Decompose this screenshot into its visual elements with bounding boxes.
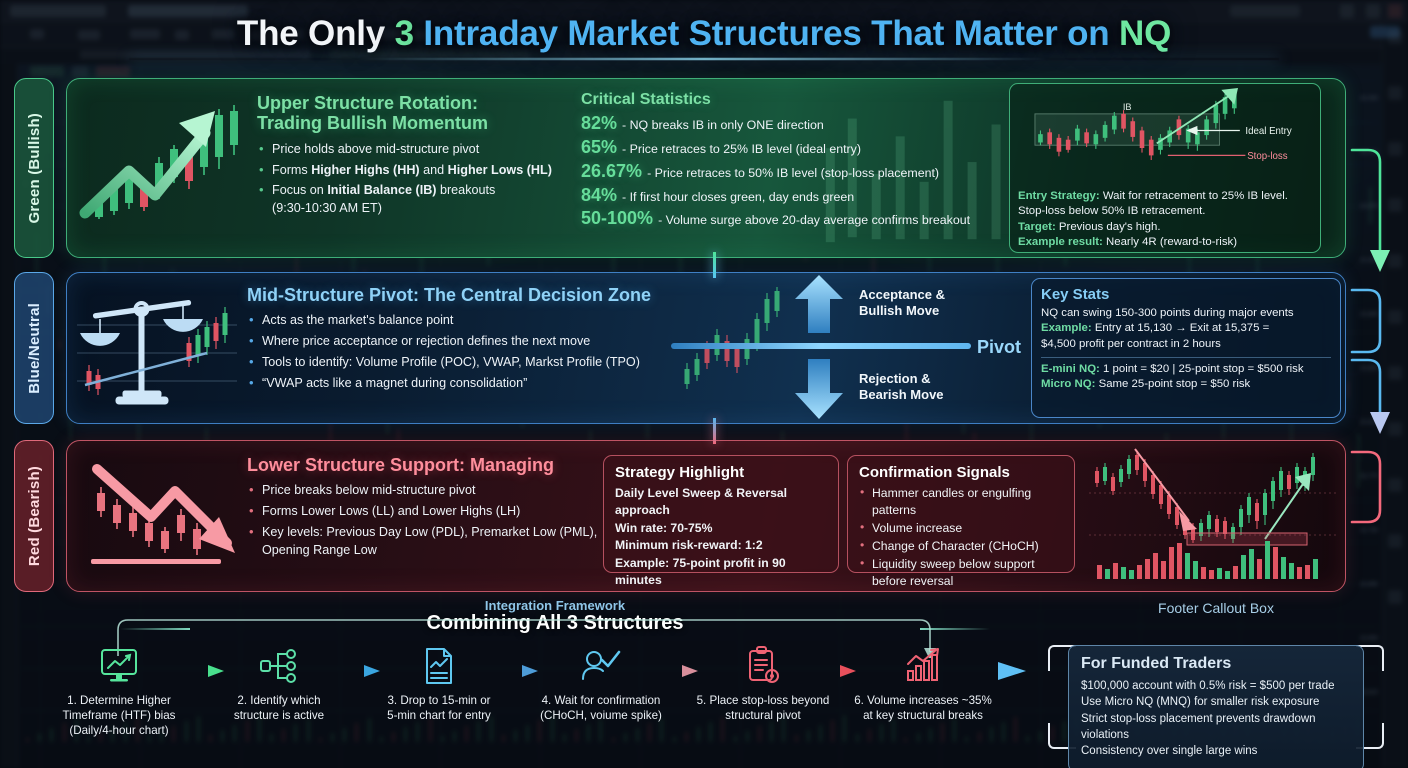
page-title: The Only 3 Intraday Market Structures Th…	[0, 8, 1408, 60]
green-bullet-1-pre: Forms	[272, 163, 311, 177]
svg-text:IB: IB	[1123, 102, 1132, 112]
stat-row: 84% - If first hour closes green, day en…	[581, 184, 1009, 207]
red-title: Lower Structure Support: Managing	[247, 455, 603, 475]
title-part-2: Intraday Market Structures That Matter o…	[414, 14, 1119, 53]
list-item: Focus on Initial Balance (IB) breakouts(…	[257, 182, 577, 218]
strategy-line: Win rate: 70-75%	[615, 520, 827, 537]
funded-traders-title: For Funded Traders	[1081, 655, 1351, 673]
confirmation-signals-title: Confirmation Signals	[859, 464, 1063, 481]
user-check-icon	[526, 644, 676, 688]
pivot-acceptance-rejection-diagram: Acceptance & Bullish Move Rejection & Be…	[671, 273, 1031, 424]
step-4-label: 4. Wait for confirmation (CHoCH, voiume …	[526, 694, 676, 724]
list-item: Forms Lower Lows (LL) and Lower Highs (L…	[247, 503, 603, 521]
callout-line: $100,000 account with 0.5% risk = $500 p…	[1081, 678, 1351, 694]
green-bullet-list: Price holds above mid-structure pivot Fo…	[257, 141, 577, 219]
stat-row: 82% - NQ breaks IB in only ONE direction	[581, 112, 1009, 135]
stat-desc: - Price retraces to 50% IB level (stop-l…	[647, 166, 939, 182]
category-tab-blue-neutral[interactable]: Blue/Neutral	[14, 272, 54, 424]
stat-row: 50-100% - Volume surge above 20-day aver…	[581, 207, 1009, 230]
framework-step-2: 2. Identify which structure is active	[204, 644, 354, 724]
stat-row: 65% - Price retraces to 25% IB level (id…	[581, 136, 1009, 159]
key-stats-line: NQ can swing 150-300 points during major…	[1041, 306, 1331, 321]
connector-green-to-blue	[713, 252, 716, 278]
entry-strategy-note: Entry Strategy: Wait for retracement to …	[1018, 189, 1312, 204]
category-tab-green-label: Green (Bullish)	[26, 113, 43, 224]
step-1-label: 1. Determine Higher Timeframe (HTF) bias…	[44, 694, 194, 739]
pivot-label: Pivot	[977, 337, 1021, 357]
green-bullet-2-pre: Focus on	[272, 183, 327, 197]
list-item: Hammer candles or engulfing patterns	[859, 485, 1063, 519]
key-stats-divider	[1041, 357, 1331, 358]
list-item: Tools to identify: Volume Profile (POC),…	[247, 354, 671, 372]
framework-step-6: 6. Volume increases ~35% at key structur…	[848, 644, 998, 724]
green-bullet-1-bold2: Higher Lows (HL)	[448, 163, 552, 177]
strategy-highlight-title: Strategy Highlight	[615, 464, 827, 481]
stat-desc: - Price retraces to 25% IB level (ideal …	[622, 142, 861, 158]
list-item: Acts as the market's balance point	[247, 312, 671, 330]
title-number: 3	[395, 14, 414, 53]
list-item: Volume increase	[859, 520, 1063, 537]
stat-desc: - Volume surge above 20-day average conf…	[658, 213, 970, 229]
framework-step-5: 5. Place stop-loss beyond structural piv…	[688, 644, 838, 724]
green-bullet-1-bold: Higher Highs (HH)	[311, 163, 419, 177]
footer-callout-caption: Footer Callout Box	[1048, 600, 1384, 616]
example-result-note: Example result: Nearly 4R (reward-to-ris…	[1018, 235, 1312, 250]
red-bullet-list: Price breaks below mid-structure pivot F…	[247, 482, 603, 560]
framework-steps: 1. Determine Higher Timeframe (HTF) bias…	[60, 644, 1050, 754]
connector-blue-to-red	[713, 418, 716, 444]
key-stats-title: Key Stats	[1041, 286, 1331, 303]
callout-line: Strict stop-loss placement prevents draw…	[1081, 711, 1351, 744]
target-note: Target: Previous day's high.	[1018, 220, 1312, 235]
category-tab-green-bullish[interactable]: Green (Bullish)	[14, 78, 54, 258]
title-part-1: The Only	[237, 14, 395, 53]
section-lower-structure-support: Lower Structure Support: Managing Price …	[66, 440, 1346, 592]
stat-row: 26.67% - Price retraces to 50% IB level …	[581, 160, 1009, 183]
list-item: Key levels: Previous Day Low (PDL), Prem…	[247, 524, 603, 560]
strategy-line: Daily Level Sweep & Reversal approach	[615, 485, 827, 520]
list-item: Price breaks below mid-structure pivot	[247, 482, 603, 500]
key-stats-line: $4,500 profit per contract in 2 hours	[1041, 337, 1331, 352]
bearish-reversal-chart	[1083, 443, 1345, 592]
green-bullet-3: (9:30-10:30 AM ET)	[272, 201, 382, 215]
ib-breakout-chart: IB	[1016, 88, 1316, 184]
callout-line: Consistency over single large wins	[1081, 743, 1351, 759]
bearish-arrow-candles-illustration	[67, 441, 247, 592]
strategy-highlight-card: Strategy Highlight Daily Level Sweep & R…	[603, 455, 839, 573]
green-title-line2: Trading Bullish Momentum	[257, 113, 488, 133]
step-3-label: 3. Drop to 15-min or 5-min chart for ent…	[364, 694, 514, 724]
balance-scales-illustration	[67, 273, 247, 424]
critical-statistics-title: Critical Statistics	[581, 91, 1009, 109]
confirmation-signals-card: Confirmation Signals Hammer candles or e…	[847, 455, 1075, 573]
list-item: “VWAP acts like a magnet during consolid…	[247, 375, 671, 393]
acceptance-label-line1: Acceptance &	[859, 287, 945, 302]
category-tab-red-label: Red (Bearish)	[26, 466, 43, 566]
key-stats-line: Example: Entry at 15,130 → Exit at 15,37…	[1041, 321, 1331, 336]
list-item: Price holds above mid-structure pivot	[257, 141, 577, 159]
integration-framework: Integration Framework Combining All 3 St…	[60, 598, 1050, 635]
stoploss-note: Stop-loss below 50% IB retracement.	[1018, 204, 1312, 219]
stat-value: 84%	[581, 184, 617, 207]
category-tab-red-bearish[interactable]: Red (Bearish)	[14, 440, 54, 592]
document-chart-icon	[364, 644, 514, 688]
acceptance-label-line2: Bullish Move	[859, 303, 939, 318]
list-item: Liquidity sweep below supportbefore reve…	[859, 556, 1063, 590]
ideal-entry-label: Ideal Entry	[1245, 126, 1291, 137]
title-underline	[129, 58, 1279, 60]
strategy-line: Minimum risk-reward: 1:2	[615, 537, 827, 554]
rejection-label-line2: Bearish Move	[859, 387, 944, 402]
funded-traders-box: For Funded Traders $100,000 account with…	[1068, 645, 1364, 768]
callout-line: Use Micro NQ (MNQ) for smaller risk expo…	[1081, 694, 1351, 710]
footer-callout-box: Footer Callout Box For Funded Traders $1…	[1048, 600, 1384, 749]
rejection-label-line1: Rejection &	[859, 371, 931, 386]
green-bullet-2-post: breakouts	[436, 183, 495, 197]
framework-step-3: 3. Drop to 15-min or 5-min chart for ent…	[364, 644, 514, 724]
framework-step-4: 4. Wait for confirmation (CHoCH, voiume …	[526, 644, 676, 724]
step-6-label: 6. Volume increases ~35% at key structur…	[848, 694, 998, 724]
blue-title: Mid-Structure Pivot: The Central Decisio…	[247, 285, 671, 305]
green-bullet-2-bold: Initial Balance (IB)	[327, 183, 436, 197]
blue-bullet-list: Acts as the market's balance point Where…	[247, 312, 671, 393]
list-item: Change of Character (CHoCH)	[859, 538, 1063, 555]
branching-nodes-icon	[204, 644, 354, 688]
stat-desc: - NQ breaks IB in only ONE direction	[622, 118, 824, 134]
section-mid-structure-pivot: Mid-Structure Pivot: The Central Decisio…	[66, 272, 1346, 424]
list-item: Forms Higher Highs (HH) and Higher Lows …	[257, 162, 577, 180]
stat-value: 65%	[581, 136, 617, 159]
bullish-arrow-candles-illustration	[67, 79, 257, 258]
stat-value: 26.67%	[581, 160, 642, 183]
stat-desc: - If first hour closes green, day ends g…	[622, 190, 854, 206]
stat-value: 82%	[581, 112, 617, 135]
green-title-line1: Upper Structure Rotation:	[257, 93, 478, 113]
confirmation-signals-list: Hammer candles or engulfing patterns Vol…	[859, 485, 1063, 590]
monitor-chart-icon	[44, 644, 194, 688]
micro-nq-line: Micro NQ: Same 25-point stop = $50 risk	[1041, 377, 1331, 392]
strategy-line: Example: 75-point profit in 90 minutes	[615, 555, 827, 590]
category-tab-blue-label: Blue/Neutral	[26, 303, 43, 394]
title-ticker: NQ	[1119, 14, 1171, 53]
green-bullet-1-mid: and	[420, 163, 448, 177]
volume-bars-icon	[848, 644, 998, 688]
emini-nq-line: E-mini NQ: 1 point = $20 | 25-point stop…	[1041, 362, 1331, 377]
clipboard-stop-icon	[688, 644, 838, 688]
side-flow-arrows	[1346, 60, 1408, 620]
section-upper-structure-rotation: Upper Structure Rotation: Trading Bullis…	[66, 78, 1346, 258]
stat-value: 50-100%	[581, 207, 653, 230]
framework-step-1: 1. Determine Higher Timeframe (HTF) bias…	[44, 644, 194, 739]
list-item: Where price acceptance or rejection defi…	[247, 333, 671, 351]
step-5-label: 5. Place stop-loss beyond structural piv…	[688, 694, 838, 724]
green-bullet-0: Price holds above mid-structure pivot	[272, 142, 479, 156]
step-2-label: 2. Identify which structure is active	[204, 694, 354, 724]
stop-loss-label: Stop-loss	[1247, 151, 1288, 162]
